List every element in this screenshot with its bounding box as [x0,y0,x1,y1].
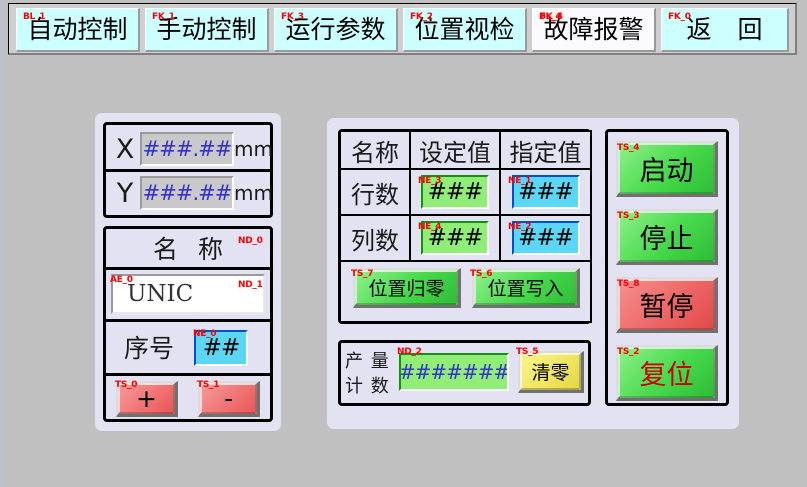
pause-button-label: 暂停 [640,285,694,324]
tab-manual-control-label: 手动控制 [156,17,256,42]
y-unit-label: mm [234,171,274,215]
name-group: 名 称 UNIC 序号 ## + - [103,226,273,422]
tab-position-inspect[interactable]: 位置视检 [403,8,527,52]
x-unit-label: mm [234,127,274,171]
index-value: ## [203,337,240,360]
increment-button-inner: + [118,383,175,414]
clear-counter-button-inner: 清零 [520,353,581,390]
table-header-setvalue: 设定值 [409,130,501,170]
rows-target-value: ### [518,181,573,204]
row-name-cols: 列数 [351,221,399,256]
position-write-button-inner: 位置写入 [474,270,577,305]
tab-return[interactable]: 返 回 [661,8,789,52]
cols-target-field[interactable]: ### [512,221,580,255]
name-divider-3 [106,373,270,376]
clear-counter-button-label: 清零 [531,358,569,385]
product-name-value: UNIC [113,283,263,306]
tab-run-params-label: 运行参数 [285,17,385,42]
y-position-field[interactable]: ###.## [140,176,234,210]
production-count-field[interactable]: ####### [399,353,509,391]
production-counter-group: 产 量 计 数 ####### 清零 [338,340,591,406]
table-cell-rows-set: ### [409,168,501,216]
table-row: 行数 [339,168,411,216]
start-button-inner: 启动 [618,143,715,194]
coordinate-group: X ###.## mm Y ###.## mm [103,122,273,218]
cols-set-field[interactable]: ### [421,221,489,255]
increment-button-label: + [136,384,157,413]
tab-bar: 自动控制 BL_1 手动控制 FK_1 运行参数 FK_3 位置视检 FK_2 … [8,3,797,55]
stop-button-label: 停止 [640,217,694,256]
table-cell-cols-set: ### [409,214,501,262]
reset-button-inner: 复位 [618,347,715,398]
stop-button-inner: 停止 [618,211,715,262]
rows-set-value: ### [428,181,483,204]
y-position-value: ###.## [143,183,232,204]
tab-fault-alarm[interactable]: 故障报警 [532,8,656,52]
production-count-value: ####### [399,362,509,383]
increment-button[interactable]: + [116,381,178,417]
decrement-button-inner: - [200,383,257,414]
position-zero-button-label: 位置归零 [368,274,444,301]
table-header-name-label: 名称 [351,133,399,168]
decrement-button[interactable]: - [198,381,260,417]
table-cell-cols-target: ### [499,214,592,262]
table-header-setvalue-label: 设定值 [419,133,491,168]
position-zero-button-inner: 位置归零 [355,270,458,305]
tab-auto-control-label: 自动控制 [27,17,127,42]
rows-target-field[interactable]: ### [512,175,580,209]
rows-set-field[interactable]: ### [421,175,489,209]
tab-manual-control[interactable]: 手动控制 [145,8,269,52]
table-header-name: 名称 [339,130,411,170]
tab-auto-control[interactable]: 自动控制 [16,8,140,52]
reset-button[interactable]: 复位 [616,345,718,401]
name-divider-2 [106,319,270,322]
name-divider-1 [106,267,270,270]
index-label: 序号 [112,323,186,371]
control-button-group: 启动 停止 暂停 复位 [605,129,729,406]
pause-button-inner: 暂停 [618,279,715,330]
cols-target-value: ### [518,227,573,250]
reset-button-label: 复位 [640,353,694,392]
table-cell-rows-target: ### [499,168,592,216]
table-row: 列数 [339,214,411,262]
tab-run-params[interactable]: 运行参数 [274,8,398,52]
pause-button[interactable]: 暂停 [616,277,718,333]
product-name-field[interactable]: UNIC [111,274,265,314]
y-axis-label: Y [110,171,140,215]
table-header-targetvalue-label: 指定值 [510,133,582,168]
position-write-button[interactable]: 位置写入 [472,268,580,308]
counter-label: 产 量 计 数 [345,346,399,402]
start-button[interactable]: 启动 [616,141,718,197]
position-write-button-label: 位置写入 [487,274,563,301]
left-panel: X ###.## mm Y ###.## mm ND_0 ND_1 名 称 UN… [95,113,281,431]
counter-label-line1: 产 量 [345,349,399,374]
decrement-button-label: - [224,384,233,413]
index-field[interactable]: ## [194,330,248,366]
stop-button[interactable]: 停止 [616,209,718,265]
position-zero-button[interactable]: 位置归零 [353,268,461,308]
x-position-value: ###.## [143,139,232,160]
start-button-label: 启动 [640,149,694,188]
x-position-field[interactable]: ###.## [140,132,234,166]
center-right-panel: 名称 设定值 指定值 行数 ### ### 列数 ### [327,118,739,429]
tab-return-label: 返 回 [678,17,772,42]
counter-label-line2: 计 数 [345,374,399,399]
tab-position-inspect-label: 位置视检 [414,17,514,42]
x-axis-label: X [110,127,140,171]
name-group-header: 名 称 [106,229,270,267]
tab-fault-alarm-label: 故障报警 [543,17,643,42]
cols-set-value: ### [428,227,483,250]
parameter-table: 名称 设定值 指定值 行数 ### ### 列数 ### [338,129,591,324]
table-header-targetvalue: 指定值 [499,130,592,170]
row-name-rows: 行数 [351,175,399,210]
clear-counter-button[interactable]: 清零 [518,351,584,393]
